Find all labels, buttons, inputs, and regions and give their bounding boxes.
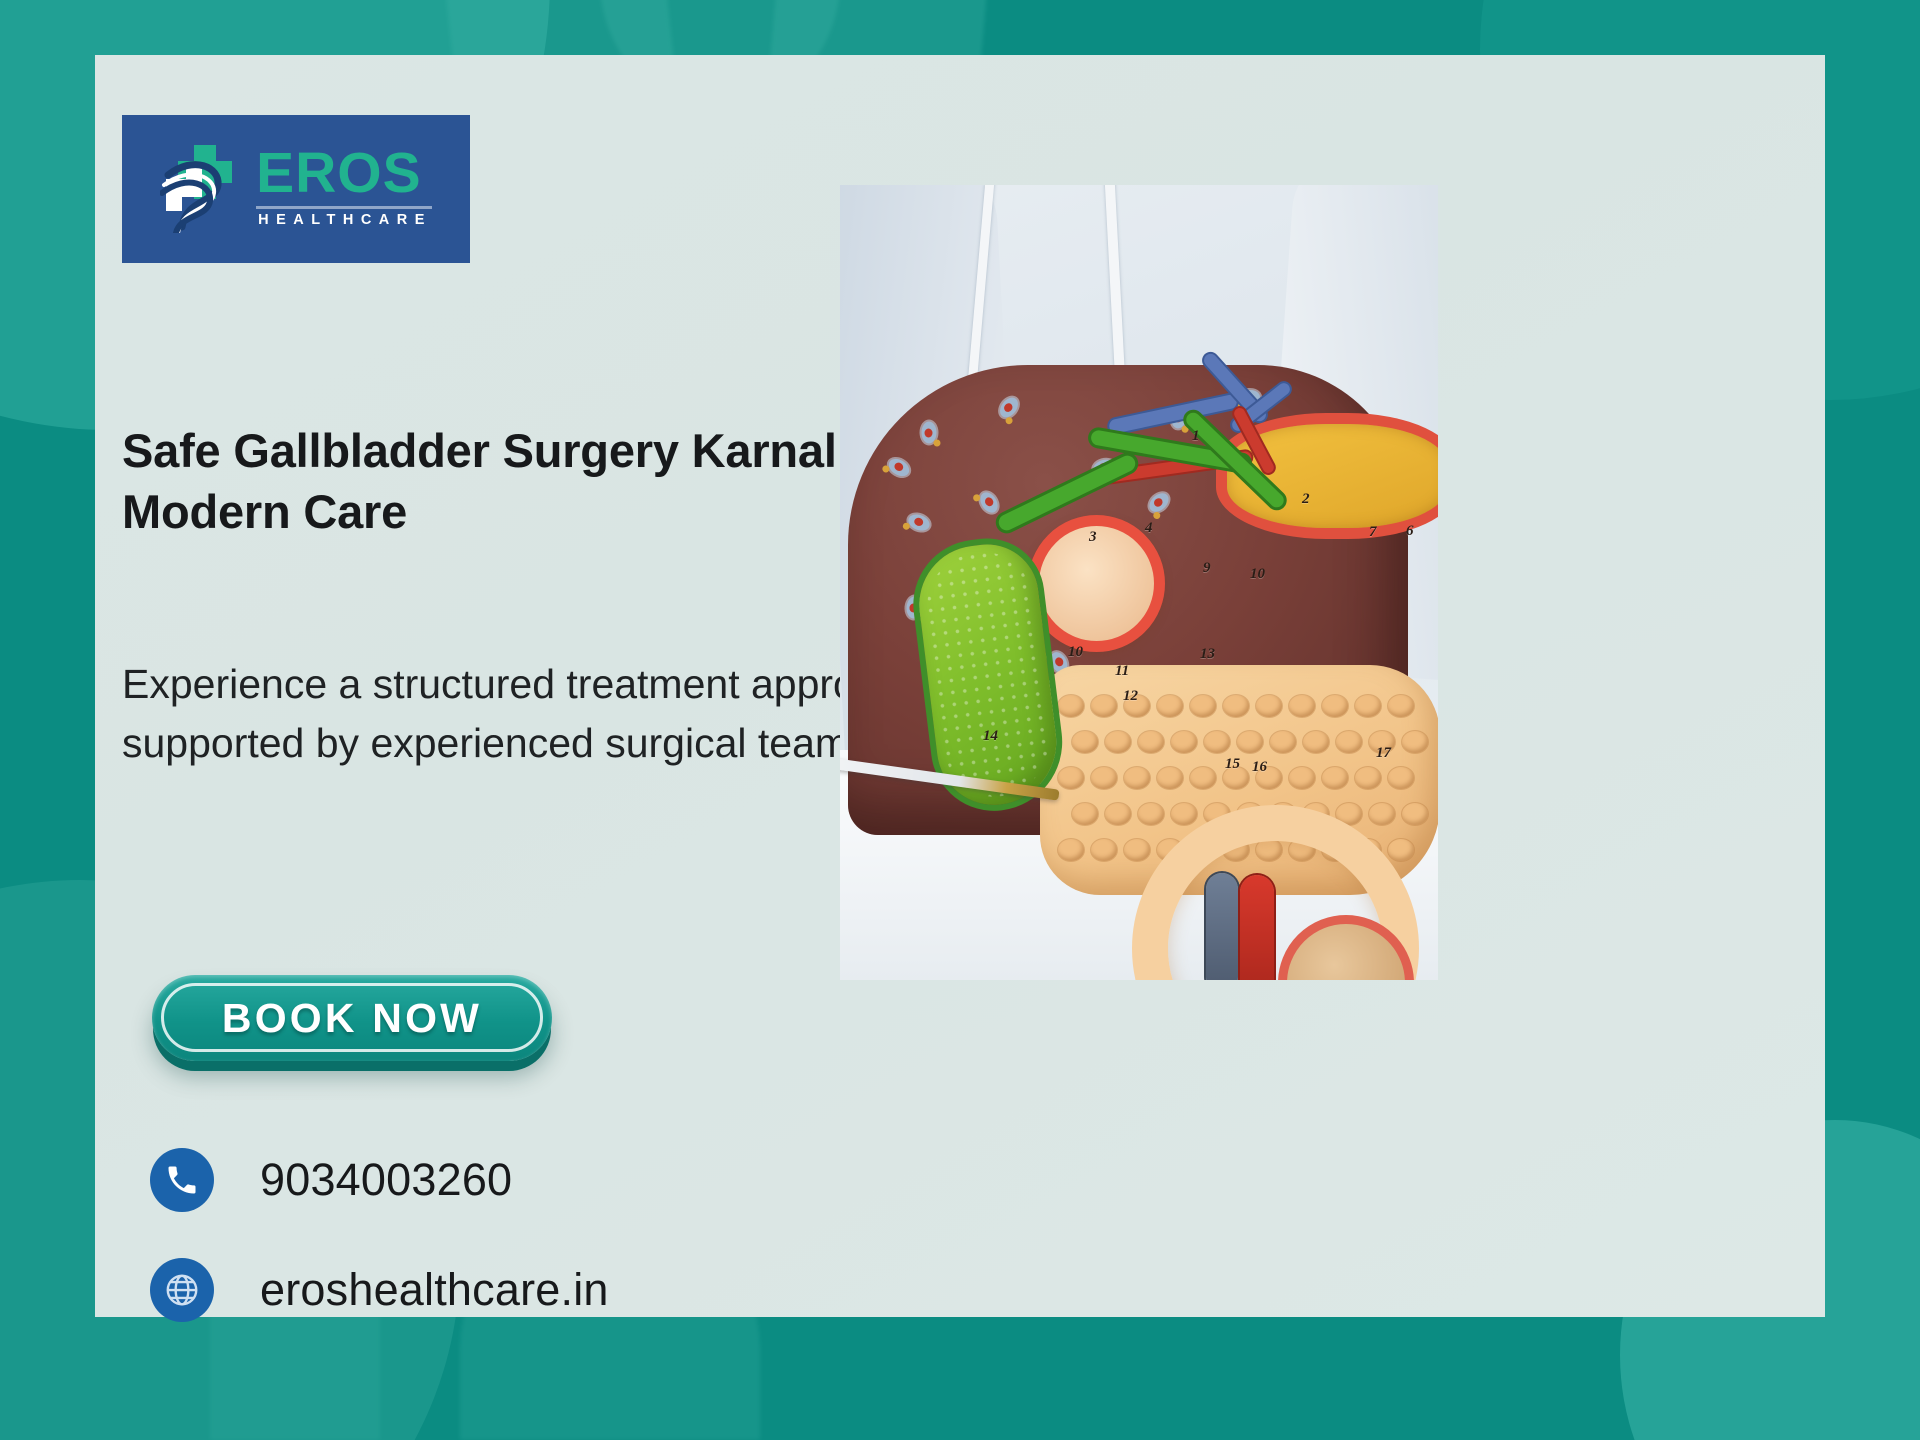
liver-lobule-marker (1146, 490, 1172, 516)
pancreas-lobule (1058, 839, 1084, 861)
poster-canvas: EROS HEALTHCARE Safe Gallbladder Surgery… (0, 0, 1920, 1440)
pancreas-lobule (1105, 803, 1131, 825)
book-now-button[interactable]: BOOK NOW (152, 975, 552, 1061)
website-url: eroshealthcare.in (260, 1264, 609, 1316)
pancreas-lobule (1105, 731, 1131, 753)
pancreas-lobule (1124, 767, 1150, 789)
pancreas-lobule (1402, 803, 1428, 825)
pancreas-lobule (1388, 839, 1414, 861)
liver-lobule-marker (996, 394, 1021, 421)
pancreas-lobule (1322, 695, 1348, 717)
pancreas-lobule (1058, 767, 1084, 789)
anatomy-label-number: 7 (1369, 524, 1377, 541)
pancreas-lobule (1256, 695, 1282, 717)
pancreas-lobule (1091, 839, 1117, 861)
anatomy-label-number: 15 (1225, 756, 1240, 773)
cta-container: BOOK NOW (152, 975, 552, 1061)
anatomy-photo: 1234679101011121314151617 (840, 185, 1438, 980)
anatomy-label-number: 1 (1192, 428, 1200, 445)
logo-wordmark: EROS (256, 146, 422, 201)
liver-lobule-marker (886, 455, 913, 479)
anatomy-label-number: 10 (1068, 644, 1083, 661)
pancreas-lobule (1223, 695, 1249, 717)
eros-cross-swoosh-icon (160, 141, 246, 233)
logo-divider (256, 206, 432, 209)
abdominal-aorta (1240, 875, 1274, 980)
pancreas-lobule (1289, 695, 1315, 717)
pancreas-lobule (1157, 695, 1183, 717)
pancreas-lobule (1058, 695, 1084, 717)
pancreas-lobule (1190, 695, 1216, 717)
pancreas-lobule (1091, 695, 1117, 717)
anatomy-label-number: 10 (1250, 566, 1265, 583)
pancreas-lobule (1270, 731, 1296, 753)
pancreas-lobule (1289, 767, 1315, 789)
anatomy-label-number: 16 (1252, 759, 1267, 776)
anatomy-label-number: 14 (983, 728, 998, 745)
contact-phone[interactable]: 9034003260 (150, 1148, 512, 1212)
pancreas-lobule (1237, 731, 1263, 753)
anatomy-label-number: 11 (1115, 663, 1129, 680)
page-title: Safe Gallbladder Surgery Karnal with Mod… (122, 420, 952, 542)
pancreas-lobule (1388, 695, 1414, 717)
brand-logo[interactable]: EROS HEALTHCARE (122, 115, 470, 263)
anatomy-label-number: 12 (1123, 688, 1138, 705)
pancreas-lobule (1072, 731, 1098, 753)
pancreas-lobule (1072, 803, 1098, 825)
pancreas-lobule (1322, 767, 1348, 789)
contact-website[interactable]: eroshealthcare.in (150, 1258, 609, 1322)
pancreas-lobule (1303, 731, 1329, 753)
anatomy-label-number: 17 (1376, 745, 1391, 762)
pancreas-lobule (1369, 803, 1395, 825)
pancreas-lobule (1402, 731, 1428, 753)
anatomy-label-number: 3 (1089, 529, 1097, 546)
pancreas-lobule (1355, 695, 1381, 717)
inferior-vena-cava (1206, 873, 1238, 980)
liver-lobule-marker (977, 489, 1001, 516)
anatomy-label-number: 9 (1203, 560, 1211, 577)
liver-lobule-marker (906, 512, 932, 534)
phone-icon (150, 1148, 214, 1212)
gallbladder-texture (922, 548, 1055, 803)
pancreas-lobule (1124, 839, 1150, 861)
pancreas-lobule (1157, 767, 1183, 789)
pancreas-lobule (1171, 731, 1197, 753)
pancreas-lobule (1190, 767, 1216, 789)
globe-icon (150, 1258, 214, 1322)
pancreas-lobule (1388, 767, 1414, 789)
book-now-label: BOOK NOW (222, 995, 482, 1042)
anatomy-label-number: 13 (1200, 646, 1215, 663)
pancreas-lobule (1204, 731, 1230, 753)
anatomy-label-number: 6 (1406, 523, 1414, 540)
liver-lobule-marker (922, 422, 937, 444)
pancreas-lobule (1091, 767, 1117, 789)
phone-number: 9034003260 (260, 1154, 512, 1206)
pancreas-lobule (1336, 731, 1362, 753)
anatomy-label-number: 2 (1302, 491, 1310, 508)
pancreas-lobule (1138, 803, 1164, 825)
pancreas-lobule (1138, 731, 1164, 753)
pancreas-lobule (1355, 767, 1381, 789)
pancreas-lobule (1171, 803, 1197, 825)
logo-tagline: HEALTHCARE (256, 213, 432, 228)
anatomy-label-number: 4 (1145, 520, 1153, 537)
